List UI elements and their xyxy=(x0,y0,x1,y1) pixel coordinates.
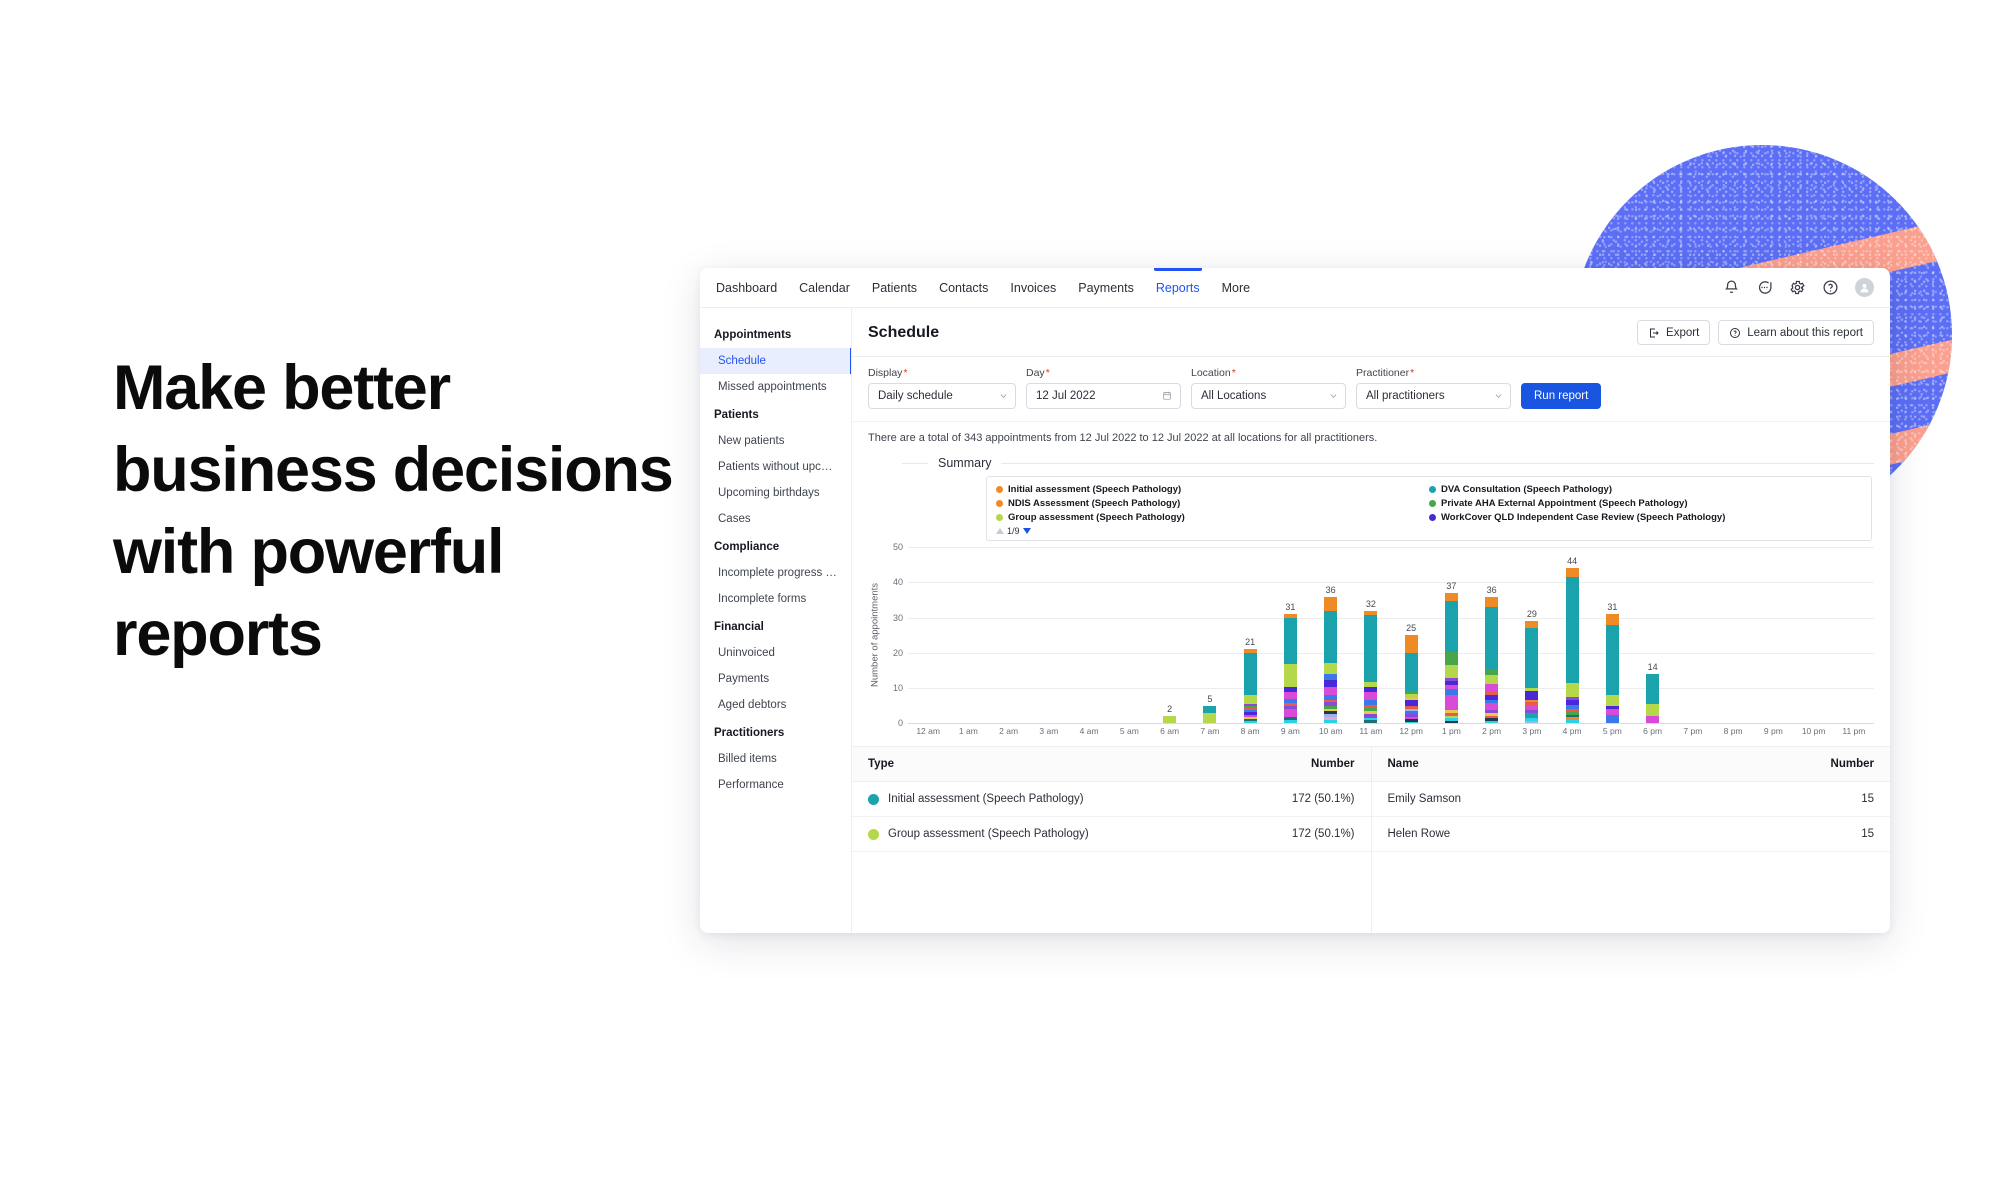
filter-value-display: Daily schedule xyxy=(878,390,953,402)
required-marker: * xyxy=(1232,367,1236,379)
legend-entry[interactable]: Initial assessment (Speech Pathology) xyxy=(996,483,1429,497)
x-tick-label: 5 pm xyxy=(1592,726,1632,736)
bar-column[interactable]: 44 xyxy=(1552,547,1592,723)
report-filters: Display*Daily scheduleDay*12 Jul 2022Loc… xyxy=(852,357,1890,422)
required-marker: * xyxy=(1410,367,1414,379)
legend-entry[interactable]: WorkCover QLD Independent Case Review (S… xyxy=(1429,511,1862,525)
type-number: 172 (50.1%) xyxy=(1229,782,1370,817)
bar-segment xyxy=(1525,691,1538,699)
type-cell-content: Group assessment (Speech Pathology) xyxy=(868,828,1213,840)
bar-segment xyxy=(1566,683,1579,697)
stacked-bar[interactable] xyxy=(1606,614,1619,723)
type-table-body: Initial assessment (Speech Pathology)172… xyxy=(852,782,1371,852)
bar-segment xyxy=(1364,720,1377,723)
bar-column[interactable] xyxy=(1794,547,1834,723)
bar-total-label: 31 xyxy=(1607,602,1617,612)
bar-segment xyxy=(1445,689,1458,696)
x-tick-label: 12 pm xyxy=(1391,726,1431,736)
x-tick-label: 11 am xyxy=(1351,726,1391,736)
bar-column[interactable] xyxy=(1109,547,1149,723)
bar-column[interactable] xyxy=(908,547,948,723)
bar-segment xyxy=(1324,611,1337,663)
top-navigation: DashboardCalendarPatientsContactsInvoice… xyxy=(700,268,1890,308)
sidebar-item-payments[interactable]: Payments xyxy=(700,666,851,692)
stacked-bar[interactable] xyxy=(1525,621,1538,723)
bar-segment xyxy=(1485,675,1498,684)
x-tick-label: 9 am xyxy=(1270,726,1310,736)
x-tick-label: 7 pm xyxy=(1673,726,1713,736)
filter-display: Display*Daily schedule xyxy=(868,367,1016,409)
select-display[interactable]: Daily schedule xyxy=(868,383,1016,409)
bar-segment xyxy=(1646,716,1659,723)
bar-column[interactable]: 31 xyxy=(1270,547,1310,723)
bar-segment xyxy=(1566,577,1579,683)
legend-pager[interactable]: 1/9 xyxy=(996,526,1862,536)
stacked-bar[interactable] xyxy=(1646,674,1659,723)
legend-entry[interactable]: DVA Consultation (Speech Pathology) xyxy=(1429,483,1862,497)
bar-chart: Number of appointments 01020304050 25213… xyxy=(868,547,1874,723)
sidebar-group-financial: Financial xyxy=(700,612,851,640)
top-nav-items: DashboardCalendarPatientsContactsInvoice… xyxy=(716,269,1272,306)
y-tick-label: 40 xyxy=(893,577,903,587)
type-color-dot xyxy=(868,829,879,840)
legend-prev-icon[interactable] xyxy=(996,528,1004,534)
y-tick-label: 30 xyxy=(893,613,903,623)
x-tick-label: 2 am xyxy=(989,726,1029,736)
type-table: Type Number Initial assessment (Speech P… xyxy=(852,747,1371,852)
filter-label-display: Display* xyxy=(868,367,1016,379)
bar-segment xyxy=(1324,597,1337,612)
nav-item-invoices[interactable]: Invoices xyxy=(1010,269,1056,306)
bar-column[interactable]: 14 xyxy=(1633,547,1673,723)
bar-column[interactable] xyxy=(1753,547,1793,723)
legend-color-dot xyxy=(996,486,1003,493)
bar-column[interactable] xyxy=(948,547,988,723)
bar-segment xyxy=(1244,653,1257,695)
name-table: Name Number Emily Samson15Helen Rowe15 xyxy=(1372,747,1891,852)
bar-total-label: 21 xyxy=(1245,637,1255,647)
sidebar-group-practitioners: Practitioners xyxy=(700,718,851,746)
legend-entry-label: NDIS Assessment (Speech Pathology) xyxy=(1008,497,1180,511)
page-headline: Make better business decisions with powe… xyxy=(113,348,673,676)
type-cell-content: Initial assessment (Speech Pathology) xyxy=(868,793,1213,805)
bar-column[interactable]: 37 xyxy=(1431,547,1471,723)
chevron-down-icon[interactable] xyxy=(999,392,1008,401)
bar-total-label: 14 xyxy=(1648,662,1658,672)
practitioner-number: 15 xyxy=(1674,817,1890,852)
bar-total-label: 37 xyxy=(1446,581,1456,591)
bar-segment xyxy=(1606,695,1619,706)
bar-segment xyxy=(1364,615,1377,682)
bar-total-label: 36 xyxy=(1326,585,1336,595)
sidebar-item-incomplete-forms[interactable]: Incomplete forms xyxy=(700,586,851,612)
sidebar-item-upcoming-birthdays[interactable]: Upcoming birthdays xyxy=(700,480,851,506)
x-tick-label: 7 am xyxy=(1190,726,1230,736)
stacked-bar[interactable] xyxy=(1163,716,1176,723)
legend-entry-label: Private AHA External Appointment (Speech… xyxy=(1441,497,1688,511)
legend-column-left: Initial assessment (Speech Pathology)NDI… xyxy=(996,483,1429,524)
bar-column[interactable]: 36 xyxy=(1472,547,1512,723)
stacked-bar[interactable] xyxy=(1284,614,1297,723)
required-marker: * xyxy=(1046,367,1050,379)
summary-section-title: Summary xyxy=(868,456,1874,470)
legend-next-icon[interactable] xyxy=(1023,528,1031,534)
sidebar-item-missed-appointments[interactable]: Missed appointments xyxy=(700,374,851,400)
stacked-bar[interactable] xyxy=(1405,635,1418,723)
nav-item-payments[interactable]: Payments xyxy=(1078,269,1134,306)
learn-label: Learn about this report xyxy=(1747,327,1863,339)
bar-segment xyxy=(1606,715,1619,723)
filter-label-practitioner: Practitioner* xyxy=(1356,367,1511,379)
bar-column[interactable] xyxy=(989,547,1029,723)
x-tick-label: 6 am xyxy=(1150,726,1190,736)
chart-block: Summary Initial assessment (Speech Patho… xyxy=(852,450,1890,736)
date-input-day[interactable]: 12 Jul 2022 xyxy=(1026,383,1181,409)
x-tick-label: 10 am xyxy=(1311,726,1351,736)
sidebar-item-performance[interactable]: Performance xyxy=(700,772,851,798)
x-axis-ticks: 12 am1 am2 am3 am4 am5 am6 am7 am8 am9 a… xyxy=(908,726,1874,736)
page-title: Schedule xyxy=(868,324,939,342)
table-row[interactable]: Emily Samson15 xyxy=(1372,782,1891,817)
type-label: Initial assessment (Speech Pathology) xyxy=(888,793,1084,805)
bar-column[interactable]: 31 xyxy=(1592,547,1632,723)
legend-page-indicator: 1/9 xyxy=(1007,526,1020,536)
filter-practitioner: Practitioner*All practitioners xyxy=(1356,367,1511,409)
select-practitioner[interactable]: All practitioners xyxy=(1356,383,1511,409)
stacked-bar[interactable] xyxy=(1445,593,1458,723)
gear-icon[interactable] xyxy=(1789,279,1806,296)
main-header: Schedule Export Learn about this report xyxy=(852,308,1890,357)
nav-item-dashboard[interactable]: Dashboard xyxy=(716,269,777,306)
legend-entry-label: Group assessment (Speech Pathology) xyxy=(1008,511,1185,525)
table-row[interactable]: Initial assessment (Speech Pathology)172… xyxy=(852,782,1371,817)
x-tick-label: 11 pm xyxy=(1834,726,1874,736)
bar-total-label: 29 xyxy=(1527,609,1537,619)
legend-color-dot xyxy=(1429,486,1436,493)
sidebar-item-billed-items[interactable]: Billed items xyxy=(700,746,851,772)
y-axis-label: Number of appointments xyxy=(868,547,882,723)
bar-total-label: 31 xyxy=(1285,602,1295,612)
export-button[interactable]: Export xyxy=(1637,320,1710,345)
report-summary-sentence: There are a total of 343 appointments fr… xyxy=(852,422,1890,450)
rule-left xyxy=(902,463,928,464)
bar-segment xyxy=(1606,614,1619,625)
window-body: AppointmentsScheduleMissed appointmentsP… xyxy=(700,308,1890,933)
bar-segment xyxy=(1445,652,1458,665)
help-circle-icon xyxy=(1729,327,1741,339)
sidebar-item-aged-debtors[interactable]: Aged debtors xyxy=(700,692,851,718)
nav-item-calendar[interactable]: Calendar xyxy=(799,269,850,306)
learn-about-report-button[interactable]: Learn about this report xyxy=(1718,320,1874,345)
bar-segment xyxy=(1485,597,1498,608)
bar-column[interactable]: 5 xyxy=(1190,547,1230,723)
bar-segment xyxy=(1405,722,1418,724)
bar-segment xyxy=(1284,618,1297,664)
bell-icon[interactable] xyxy=(1723,279,1740,296)
legend-column-right: DVA Consultation (Speech Pathology)Priva… xyxy=(1429,483,1862,524)
type-label: Group assessment (Speech Pathology) xyxy=(888,828,1089,840)
sidebar-item-cases[interactable]: Cases xyxy=(700,506,851,532)
filter-location: Location*All Locations xyxy=(1191,367,1346,409)
help-icon[interactable] xyxy=(1822,279,1839,296)
col-number[interactable]: Number xyxy=(1674,747,1890,782)
bar-segment xyxy=(1284,720,1297,724)
table-row[interactable]: Group assessment (Speech Pathology)172 (… xyxy=(852,817,1371,852)
bar-column[interactable] xyxy=(1834,547,1874,723)
x-tick-label: 9 pm xyxy=(1753,726,1793,736)
x-tick-label: 8 pm xyxy=(1713,726,1753,736)
bar-segment xyxy=(1646,704,1659,717)
bar-column[interactable] xyxy=(1673,547,1713,723)
bar-column[interactable] xyxy=(1029,547,1069,723)
bar-segment xyxy=(1405,635,1418,652)
bar-segment xyxy=(1566,568,1579,577)
rule-right xyxy=(1001,463,1874,464)
filter-day: Day*12 Jul 2022 xyxy=(1026,367,1181,409)
col-name[interactable]: Name xyxy=(1372,747,1674,782)
run-report-button[interactable]: Run report xyxy=(1521,383,1601,409)
chevron-down-icon[interactable] xyxy=(1329,392,1338,401)
filter-label-day: Day* xyxy=(1026,367,1181,379)
type-table-wrap: Type Number Initial assessment (Speech P… xyxy=(852,746,1371,933)
y-tick-label: 10 xyxy=(893,683,903,693)
filter-label-location: Location* xyxy=(1191,367,1346,379)
reports-sidebar: AppointmentsScheduleMissed appointmentsP… xyxy=(700,308,852,933)
app-window: DashboardCalendarPatientsContactsInvoice… xyxy=(700,268,1890,933)
col-number[interactable]: Number xyxy=(1229,747,1370,782)
col-type[interactable]: Type xyxy=(852,747,1229,782)
practitioner-number: 15 xyxy=(1674,782,1890,817)
legend-color-dot xyxy=(1429,514,1436,521)
x-tick-label: 4 am xyxy=(1069,726,1109,736)
bar-segment xyxy=(1324,720,1337,723)
type-cell: Initial assessment (Speech Pathology) xyxy=(852,782,1229,817)
name-table-wrap: Name Number Emily Samson15Helen Rowe15 xyxy=(1371,746,1891,933)
bar-segment xyxy=(1485,721,1498,723)
y-tick-label: 50 xyxy=(893,542,903,552)
x-tick-label: 6 pm xyxy=(1633,726,1673,736)
bar-segment xyxy=(1525,721,1538,723)
table-header-row: Name Number xyxy=(1372,747,1891,782)
y-axis-ticks: 01020304050 xyxy=(882,547,908,723)
bar-segment xyxy=(1284,692,1297,699)
legend-entry-label: Initial assessment (Speech Pathology) xyxy=(1008,483,1181,497)
type-cell: Group assessment (Speech Pathology) xyxy=(852,817,1229,852)
bar-segment xyxy=(1244,695,1257,703)
bar-column[interactable]: 2 xyxy=(1150,547,1190,723)
bar-segment xyxy=(1445,665,1458,678)
bar-segment xyxy=(1445,601,1458,653)
sidebar-group-patients: Patients xyxy=(700,400,851,428)
x-tick-label: 1 am xyxy=(948,726,988,736)
bar-column[interactable] xyxy=(1069,547,1109,723)
y-tick-label: 20 xyxy=(893,648,903,658)
bar-segment xyxy=(1445,721,1458,724)
main-content: Schedule Export Learn about this report … xyxy=(852,308,1890,933)
gridline xyxy=(908,723,1874,724)
nav-item-patients[interactable]: Patients xyxy=(872,269,917,306)
bar-segment xyxy=(1364,692,1377,700)
plot-area: 252131363225373629443114 xyxy=(908,547,1874,723)
sidebar-group-appointments: Appointments xyxy=(700,320,851,348)
calendar-icon[interactable] xyxy=(1162,391,1172,402)
legend-color-dot xyxy=(1429,500,1436,507)
select-location[interactable]: All Locations xyxy=(1191,383,1346,409)
sidebar-item-uninvoiced[interactable]: Uninvoiced xyxy=(700,640,851,666)
bar-segment xyxy=(1203,706,1216,713)
filter-value-day: 12 Jul 2022 xyxy=(1036,390,1095,402)
bar-column[interactable]: 29 xyxy=(1512,547,1552,723)
bar-segment xyxy=(1606,625,1619,695)
nav-item-more[interactable]: More xyxy=(1222,269,1250,306)
stacked-bar[interactable] xyxy=(1203,706,1216,724)
summary-label: Summary xyxy=(938,456,991,470)
type-color-dot xyxy=(868,794,879,805)
x-tick-label: 4 pm xyxy=(1552,726,1592,736)
filter-value-practitioner: All practitioners xyxy=(1366,390,1445,402)
legend-entry-label: WorkCover QLD Independent Case Review (S… xyxy=(1441,511,1725,525)
practitioner-name: Helen Rowe xyxy=(1372,817,1674,852)
bar-segment xyxy=(1284,664,1297,688)
bar-total-label: 25 xyxy=(1406,623,1416,633)
stacked-bar[interactable] xyxy=(1244,649,1257,723)
bar-segment xyxy=(1324,663,1337,674)
sidebar-item-patients-without-upcoming-a[interactable]: Patients without upcoming a... xyxy=(700,454,851,480)
bar-column[interactable]: 32 xyxy=(1351,547,1391,723)
x-tick-label: 12 am xyxy=(908,726,948,736)
nav-item-reports[interactable]: Reports xyxy=(1156,269,1200,306)
page-root: Make better business decisions with powe… xyxy=(0,0,2000,1200)
bar-column[interactable]: 21 xyxy=(1230,547,1270,723)
stacked-bar[interactable] xyxy=(1485,597,1498,724)
bar-segment xyxy=(1525,628,1538,688)
bar-column[interactable]: 25 xyxy=(1391,547,1431,723)
export-icon xyxy=(1648,327,1660,339)
y-tick-label: 0 xyxy=(898,718,903,728)
bar-segment xyxy=(1445,593,1458,600)
bar-segment xyxy=(1646,674,1659,704)
bar-segment xyxy=(1405,653,1418,691)
stacked-bar[interactable] xyxy=(1566,568,1579,723)
legend-color-dot xyxy=(996,500,1003,507)
practitioner-name: Emily Samson xyxy=(1372,782,1674,817)
bar-segment xyxy=(1203,713,1216,724)
sidebar-item-new-patients[interactable]: New patients xyxy=(700,428,851,454)
bar-segment xyxy=(1244,721,1257,723)
x-tick-label: 5 am xyxy=(1109,726,1149,736)
x-tick-label: 1 pm xyxy=(1431,726,1471,736)
top-nav-icons xyxy=(1723,278,1874,297)
x-tick-label: 3 pm xyxy=(1512,726,1552,736)
table-row[interactable]: Helen Rowe15 xyxy=(1372,817,1891,852)
sidebar-item-incomplete-progress-notes[interactable]: Incomplete progress notes xyxy=(700,560,851,586)
bar-segment xyxy=(1485,684,1498,693)
x-tick-label: 10 pm xyxy=(1794,726,1834,736)
legend-entry[interactable]: Private AHA External Appointment (Speech… xyxy=(1429,497,1862,511)
chat-icon[interactable] xyxy=(1756,279,1773,296)
legend-entry[interactable]: NDIS Assessment (Speech Pathology) xyxy=(996,497,1429,511)
type-number: 172 (50.1%) xyxy=(1229,817,1370,852)
bar-segment xyxy=(1485,607,1498,668)
bar-total-label: 5 xyxy=(1207,694,1212,704)
bar-segment xyxy=(1525,621,1538,628)
legend-entry-label: DVA Consultation (Speech Pathology) xyxy=(1441,483,1612,497)
sidebar-item-schedule[interactable]: Schedule xyxy=(700,348,851,374)
bar-segment xyxy=(1566,720,1579,724)
export-label: Export xyxy=(1666,327,1699,339)
name-table-body: Emily Samson15Helen Rowe15 xyxy=(1372,782,1891,852)
bar-total-label: 44 xyxy=(1567,556,1577,566)
table-header-row: Type Number xyxy=(852,747,1371,782)
filter-value-location: All Locations xyxy=(1201,390,1266,402)
x-tick-label: 2 pm xyxy=(1472,726,1512,736)
avatar[interactable] xyxy=(1855,278,1874,297)
bar-segment xyxy=(1163,716,1176,723)
bar-segment xyxy=(1324,687,1337,696)
stacked-bar[interactable] xyxy=(1364,611,1377,724)
bar-segment xyxy=(1284,709,1297,717)
legend-entry[interactable]: Group assessment (Speech Pathology) xyxy=(996,511,1429,525)
legend-color-dot xyxy=(996,514,1003,521)
x-tick-label: 8 am xyxy=(1230,726,1270,736)
stacked-bar[interactable] xyxy=(1324,597,1337,724)
required-marker: * xyxy=(903,367,907,379)
nav-item-contacts[interactable]: Contacts xyxy=(939,269,988,306)
bar-segment xyxy=(1445,695,1458,710)
bar-column[interactable]: 36 xyxy=(1311,547,1351,723)
bar-total-label: 2 xyxy=(1167,704,1172,714)
bar-total-label: 32 xyxy=(1366,599,1376,609)
x-tick-label: 3 am xyxy=(1029,726,1069,736)
bar-column[interactable] xyxy=(1713,547,1753,723)
bar-series: 252131363225373629443114 xyxy=(908,547,1874,723)
summary-tables: Type Number Initial assessment (Speech P… xyxy=(852,746,1890,933)
sidebar-group-compliance: Compliance xyxy=(700,532,851,560)
chevron-down-icon[interactable] xyxy=(1494,392,1503,401)
bar-total-label: 36 xyxy=(1487,585,1497,595)
bar-segment xyxy=(1324,680,1337,687)
chart-legend: Initial assessment (Speech Pathology)NDI… xyxy=(986,476,1872,541)
